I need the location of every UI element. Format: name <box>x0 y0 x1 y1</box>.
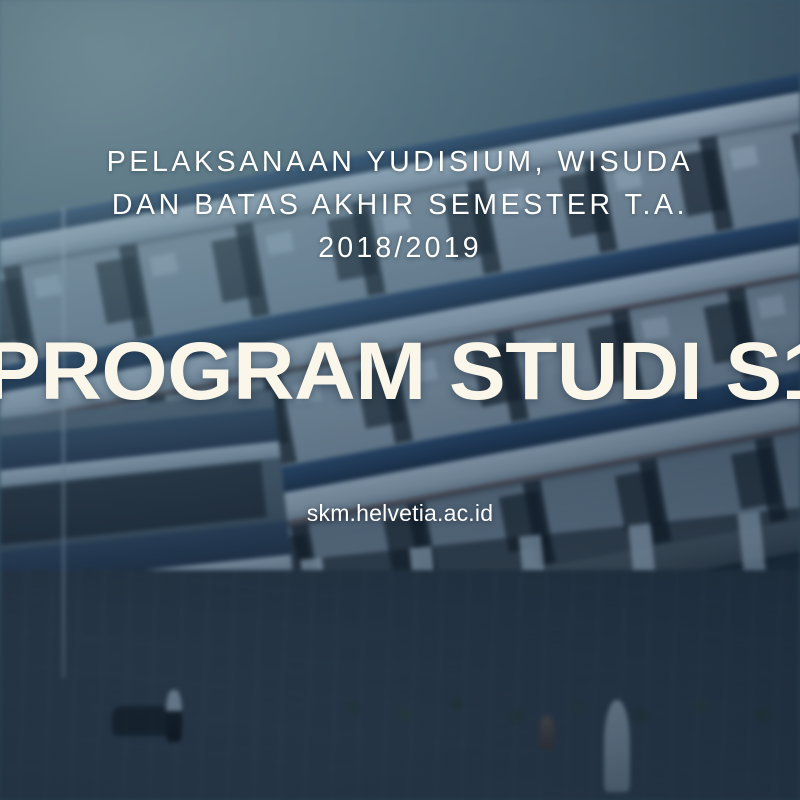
heading-line-3-academic-year: 2018/2019 <box>44 227 756 270</box>
poster-content: PELAKSANAAN YUDISIUM, WISUDA DAN BATAS A… <box>0 0 800 800</box>
heading-line-2: DAN BATAS AKHIR SEMESTER T.A. <box>44 184 756 227</box>
heading-line-1: PELAKSANAAN YUDISIUM, WISUDA <box>44 141 756 184</box>
website-url: skm.helvetia.ac.id <box>0 500 800 527</box>
page-title: PROGRAM STUDI S1 KESMAS <box>0 326 800 418</box>
poster-canvas: PELAKSANAAN YUDISIUM, WISUDA DAN BATAS A… <box>0 0 800 800</box>
announcement-heading: PELAKSANAAN YUDISIUM, WISUDA DAN BATAS A… <box>0 141 800 270</box>
